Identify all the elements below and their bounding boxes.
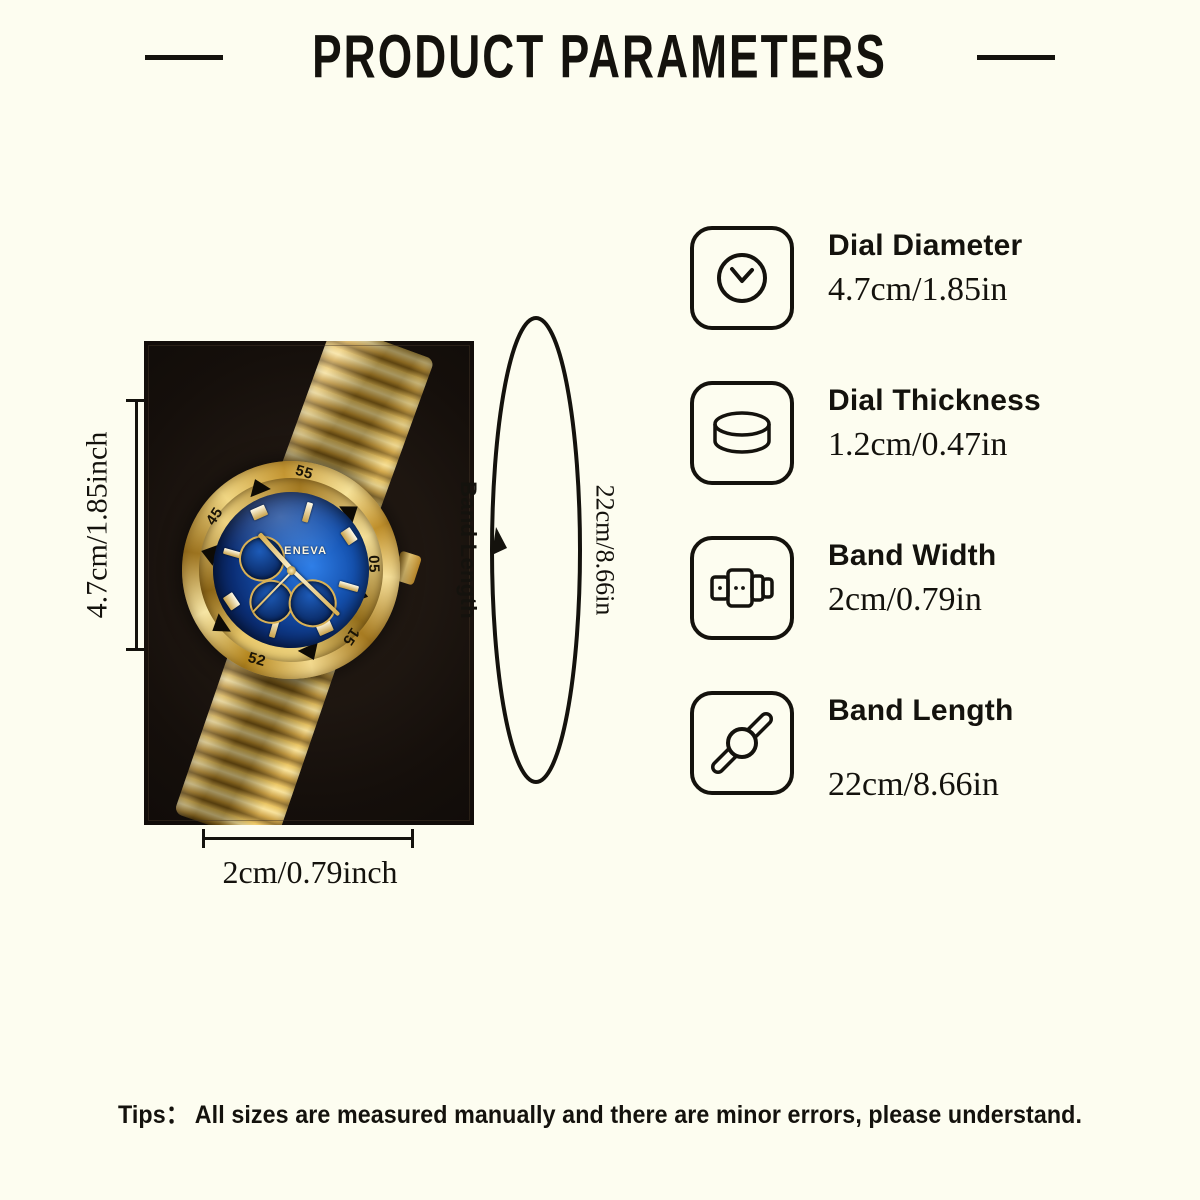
spec-value: 4.7cm/1.85in xyxy=(828,268,1022,312)
watch-illustration: 55 05 15 52 45 xyxy=(144,341,474,825)
product-photo-image: 55 05 15 52 45 xyxy=(144,341,474,825)
cylinder-icon xyxy=(690,381,794,485)
cylinder-glyph xyxy=(710,405,774,461)
band-length-loop-value: 22cm/8.66in xyxy=(589,485,619,616)
spec-value: 2cm/0.79in xyxy=(828,578,996,622)
spec-text: Dial Thickness 1.2cm/0.47in xyxy=(828,377,1041,467)
dimension-line xyxy=(202,837,414,840)
spec-label: Dial Diameter xyxy=(828,228,1022,264)
spec-text: Dial Diameter 4.7cm/1.85in xyxy=(828,222,1022,312)
dial-diameter-dimension-label-wrap: 4.7cm/1.85inch xyxy=(74,399,120,651)
title-dash-right-icon xyxy=(977,55,1055,60)
spec-label: Dial Thickness xyxy=(828,383,1041,419)
dial-index xyxy=(338,581,359,592)
product-photo: 55 05 15 52 45 xyxy=(144,341,474,825)
page-title: PRODUCT PARAMETERS xyxy=(313,26,888,88)
watch-band-glyph xyxy=(709,710,775,776)
spec-list: Dial Diameter 4.7cm/1.85in Dial Thicknes… xyxy=(690,222,1130,837)
dimension-cap-right xyxy=(411,829,414,848)
tips-text: Tips： All sizes are measured manually an… xyxy=(42,1095,1158,1131)
spec-label: Band Width xyxy=(828,538,996,574)
dial-diameter-dimension-label: 4.7cm/1.85inch xyxy=(80,432,114,619)
spec-value: 22cm/8.66in xyxy=(828,763,1014,807)
dial-index xyxy=(223,592,241,611)
spec-row-dial-diameter: Dial Diameter 4.7cm/1.85in xyxy=(690,222,1130,377)
page-title-row: PRODUCT PARAMETERS xyxy=(0,26,1200,88)
spec-label: Band Length xyxy=(828,693,1014,729)
band-width-dimension-label: 2cm/0.79inch xyxy=(150,854,470,891)
dial-subdial xyxy=(283,574,342,633)
spec-row-band-length: Band Length 22cm/8.66in xyxy=(690,687,1130,837)
buckle-glyph xyxy=(709,565,775,611)
clock-icon xyxy=(690,226,794,330)
dial-diameter-dimension-line xyxy=(126,399,144,651)
spec-row-band-width: Band Width 2cm/0.79in xyxy=(690,532,1130,687)
watch-band-icon xyxy=(690,691,794,795)
spec-row-dial-thickness: Dial Thickness 1.2cm/0.47in xyxy=(690,377,1130,532)
spec-value: 1.2cm/0.47in xyxy=(828,423,1041,467)
buckle-icon xyxy=(690,536,794,640)
title-dash-left-icon xyxy=(145,55,223,60)
bezel-number-52: 52 xyxy=(246,649,268,670)
spec-text: Band Length 22cm/8.66in xyxy=(828,687,1014,807)
spec-text: Band Width 2cm/0.79in xyxy=(828,532,996,622)
dimension-line xyxy=(135,399,138,651)
dimension-cap-bottom xyxy=(126,648,145,651)
product-parameters-page: PRODUCT PARAMETERS 55 05 15 52 45 xyxy=(0,0,1200,1200)
clock-glyph xyxy=(711,247,773,309)
band-length-loop-label: Band Length xyxy=(455,481,481,619)
band-length-loop-annotation: Band Length 22cm/8.66in xyxy=(474,305,594,795)
band-width-dimension-line xyxy=(202,829,414,847)
band-length-loop-text: Band Length 22cm/8.66in xyxy=(474,305,594,795)
